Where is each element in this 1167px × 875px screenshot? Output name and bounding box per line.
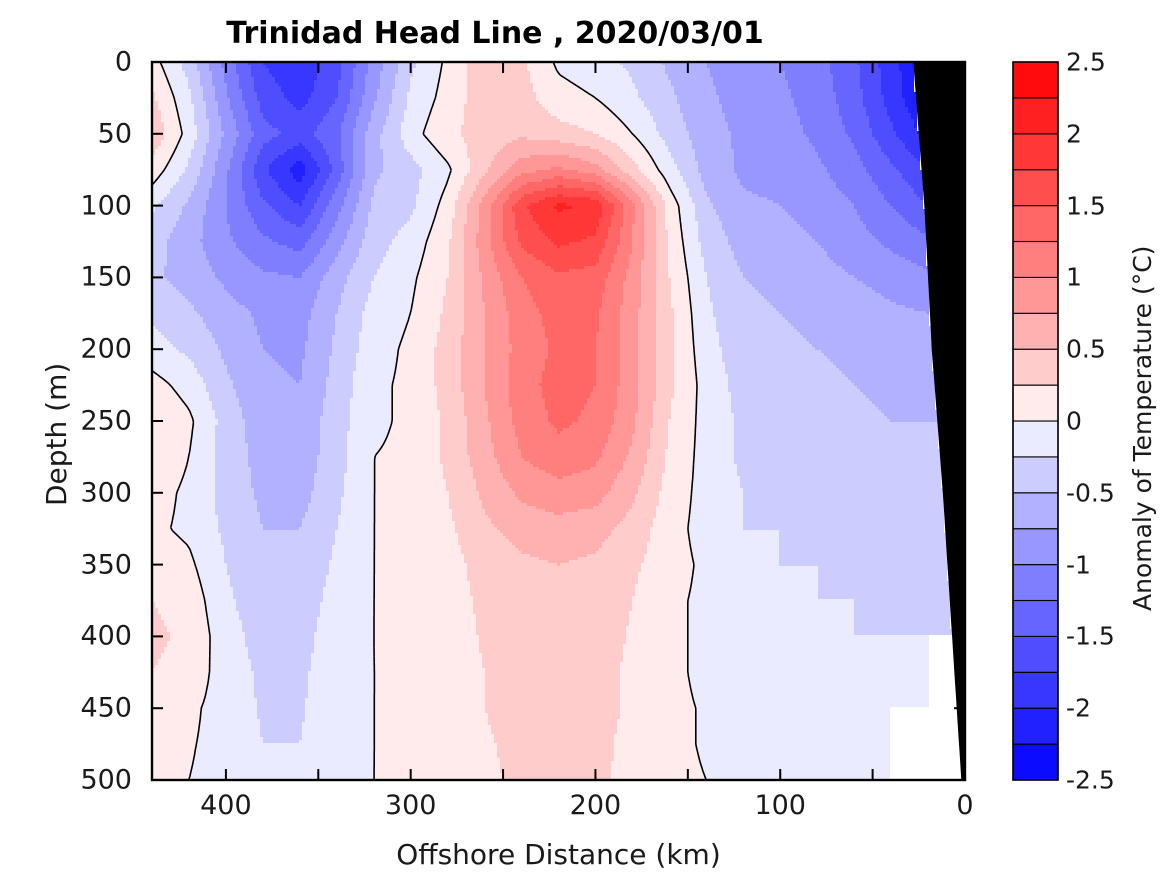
contour-plot (0, 0, 1167, 875)
colorbar-band (1013, 385, 1058, 421)
colorbar-tick-label: -2.5 (1066, 766, 1115, 795)
colorbar-band (1013, 672, 1058, 708)
colorbar-band (1013, 636, 1058, 672)
colorbar-band (1013, 708, 1058, 744)
x-tick-label: 0 (910, 790, 1020, 821)
colorbar-band (1013, 313, 1058, 349)
colorbar-tick-label: 0.5 (1066, 335, 1106, 364)
colorbar-tick-label: -1 (1066, 550, 1091, 579)
colorbar-band (1013, 601, 1058, 637)
colorbar-tick-label: 2.5 (1066, 48, 1106, 77)
colorbar-tick-label: 0 (1066, 407, 1082, 436)
x-tick-label: 100 (725, 790, 835, 821)
y-tick-label: 400 (22, 621, 132, 652)
y-tick-label: 350 (22, 549, 132, 580)
colorbar-band (1013, 565, 1058, 601)
colorbar-band (1013, 62, 1058, 98)
x-tick-label: 400 (171, 790, 281, 821)
colorbar-tick-label: 1 (1066, 263, 1082, 292)
x-axis-title: Offshore Distance (km) (0, 838, 1117, 871)
x-tick-label: 200 (540, 790, 650, 821)
colorbar-band (1013, 457, 1058, 493)
colorbar-tick-label: 2 (1066, 119, 1082, 148)
x-tick-label: 300 (356, 790, 466, 821)
colorbar (1013, 62, 1058, 780)
colorbar-band (1013, 98, 1058, 134)
y-tick-label: 150 (22, 262, 132, 293)
y-tick-label: 100 (22, 190, 132, 221)
colorbar-band (1013, 277, 1058, 313)
y-tick-label: 500 (22, 765, 132, 796)
colorbar-title: Anomaly of Temperature (°C) (1128, 246, 1157, 611)
anomaly-field (152, 62, 953, 780)
y-tick-label: 250 (22, 406, 132, 437)
colorbar-tick-label: -0.5 (1066, 478, 1115, 507)
colorbar-band (1013, 206, 1058, 242)
colorbar-band (1013, 349, 1058, 385)
colorbar-band (1013, 134, 1058, 170)
y-tick-label: 200 (22, 334, 132, 365)
colorbar-tick-label: -1.5 (1066, 622, 1115, 651)
colorbar-band (1013, 529, 1058, 565)
y-tick-label: 300 (22, 477, 132, 508)
colorbar-band (1013, 493, 1058, 529)
colorbar-band (1013, 170, 1058, 206)
colorbar-band (1013, 242, 1058, 278)
colorbar-band (1013, 421, 1058, 457)
y-tick-label: 0 (22, 47, 132, 78)
colorbar-tick-label: 1.5 (1066, 191, 1106, 220)
y-tick-label: 50 (22, 118, 132, 149)
colorbar-tick-label: -2 (1066, 694, 1091, 723)
colorbar-band (1013, 744, 1058, 780)
y-tick-label: 450 (22, 693, 132, 724)
